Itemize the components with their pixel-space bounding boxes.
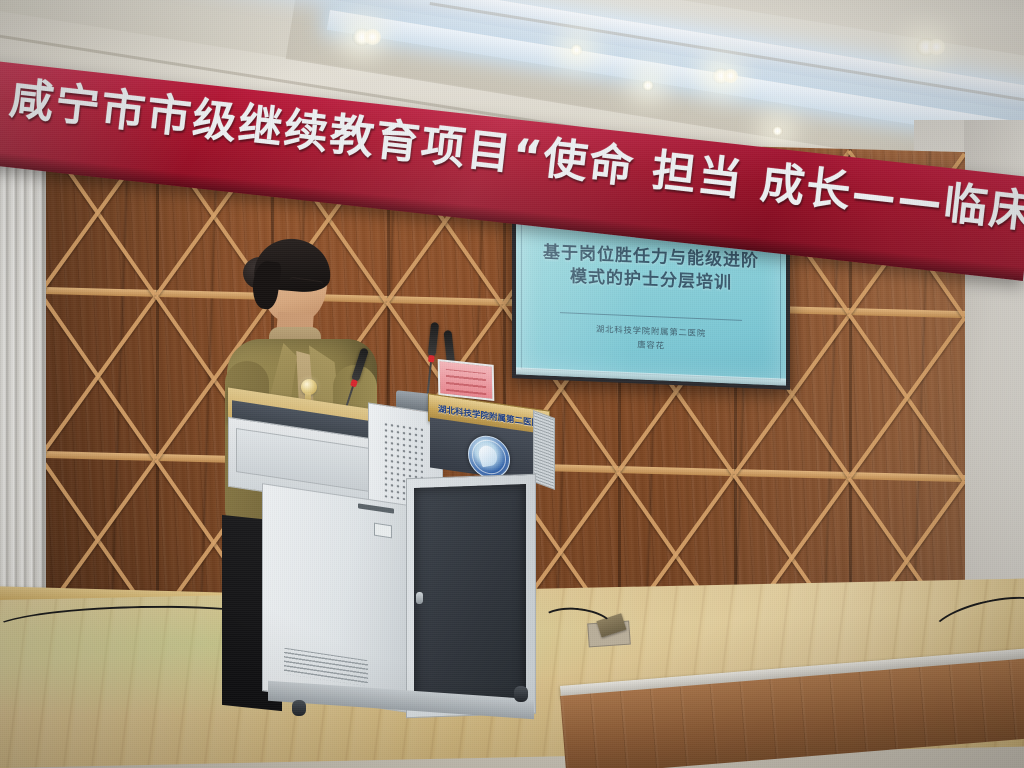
lectern-cabinet-door[interactable] [414,484,526,706]
downlight-icon [642,80,654,91]
downlight-icon [916,38,936,56]
name-card-holder [438,359,495,401]
lectern: 湖北科技学院附属第二医院 [228,398,558,738]
microphone-ring [428,355,435,363]
caster-wheel [292,700,306,716]
wall-panel-seam [156,131,159,621]
caster-wheel [514,686,528,702]
acoustic-slat-panel [0,118,46,624]
downlight-icon [570,44,583,56]
downlight-icon [772,126,783,136]
conference-hall-photo: 湖北科技学院 HUBEI UNIVERSITY OF SCIENCE AND T… [0,0,1024,768]
lectern-label-plate [374,523,392,539]
name-card-text [446,369,486,395]
lectern-side-grille [533,410,555,490]
downlight-icon [712,68,730,84]
cabinet-lock-icon[interactable] [416,592,423,604]
downlight-icon [352,28,372,46]
microphone-ring [350,379,358,388]
